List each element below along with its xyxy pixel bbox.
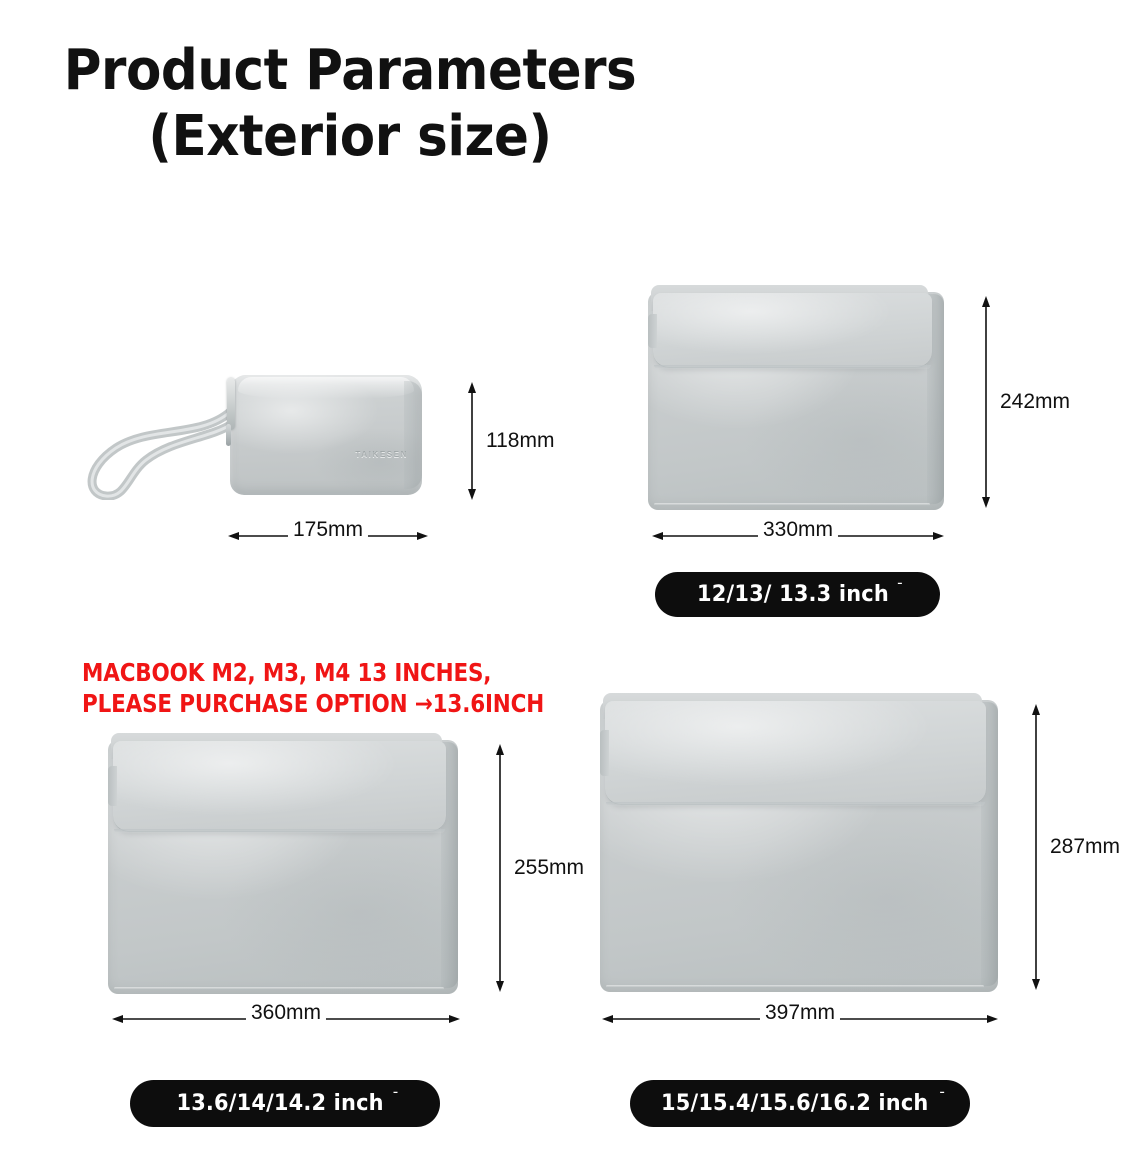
pouch-zipper-icon [227, 378, 235, 430]
product-accessory-pouch: TAIKESEN [80, 370, 440, 510]
sleeve-flap-edge [654, 365, 931, 369]
sleeve-flap [605, 701, 986, 805]
page-title-line-1: Product Parameters [28, 38, 672, 104]
size-badge-13-label: 12/13/ 13.3 inch [697, 582, 889, 607]
dimension-pouch-height: 118mm [466, 382, 478, 500]
dimension-sleeve13-width: 330mm [652, 530, 944, 542]
dimension-sleeve14-width: 360mm [112, 1013, 460, 1025]
pouch-body: TAIKESEN [230, 375, 422, 495]
sleeve-bottom-stitch [114, 987, 444, 990]
compatibility-warning-line-2: PLEASE PURCHASE OPTION →13.6INCH [82, 689, 486, 720]
sleeve-flap [653, 293, 932, 368]
product-laptop-sleeve-14 [108, 740, 458, 994]
dimension-sleeve14-width-label: 360mm [246, 1001, 326, 1025]
pouch-zipper-pull-icon [226, 424, 231, 446]
sleeve-body [600, 700, 998, 992]
dimension-pouch-width: 175mm [228, 530, 428, 542]
pouch-wrist-strap-icon [80, 408, 238, 500]
compatibility-warning: MACBOOK M2, M3, M4 13 INCHES, PLEASE PUR… [82, 658, 552, 719]
sleeve-side-tab [600, 730, 609, 776]
dimension-sleeve16-width: 397mm [602, 1013, 998, 1025]
sleeve-side-tab [648, 314, 657, 348]
sleeve-body [108, 740, 458, 994]
sleeve-body [648, 292, 944, 510]
size-badge-14-sup: ˉ [392, 1091, 399, 1106]
sleeve-flap [113, 741, 446, 832]
size-badge-14[interactable]: 13.6/14/14.2 inch ˉ [130, 1080, 440, 1127]
product-laptop-sleeve-16 [600, 700, 998, 992]
dimension-sleeve13-height-label: 242mm [996, 387, 1070, 417]
dimension-sleeve14-height-label: 255mm [510, 853, 584, 883]
pouch-highlight [238, 377, 414, 399]
dimension-pouch-height-label: 118mm [482, 426, 554, 456]
product-laptop-sleeve-13 [648, 292, 944, 510]
dimension-sleeve13-width-label: 330mm [758, 518, 838, 542]
sleeve-bottom-stitch [606, 985, 984, 988]
dimension-sleeve16-width-label: 397mm [760, 1001, 840, 1025]
size-badge-13[interactable]: 12/13/ 13.3 inch ˉ [655, 572, 940, 617]
size-badge-14-label: 13.6/14/14.2 inch [176, 1091, 383, 1116]
page-title: Product Parameters (Exterior size) [0, 38, 700, 170]
brand-logo: TAIKESEN [355, 450, 408, 459]
sleeve-bottom-stitch [654, 503, 930, 506]
dimension-sleeve14-height: 255mm [494, 744, 506, 992]
size-badge-13-sup: ˉ [897, 582, 904, 597]
compatibility-warning-line-1: MACBOOK M2, M3, M4 13 INCHES, [82, 658, 486, 689]
sleeve-flap-edge [114, 829, 445, 833]
size-badge-16[interactable]: 15/15.4/15.6/16.2 inch ˉ [630, 1080, 970, 1127]
pouch-side-panel [404, 381, 422, 489]
dimension-sleeve16-height-label: 287mm [1046, 832, 1120, 862]
size-badge-16-label: 15/15.4/15.6/16.2 inch [661, 1091, 928, 1116]
size-badge-16-sup: ˉ [939, 1091, 946, 1106]
dimension-sleeve13-height: 242mm [980, 296, 992, 508]
sleeve-side-tab [108, 766, 117, 806]
page-title-line-2: (Exterior size) [28, 104, 672, 170]
dimension-pouch-width-label: 175mm [288, 518, 368, 542]
sleeve-flap-edge [606, 802, 985, 806]
dimension-sleeve16-height: 287mm [1030, 704, 1042, 990]
